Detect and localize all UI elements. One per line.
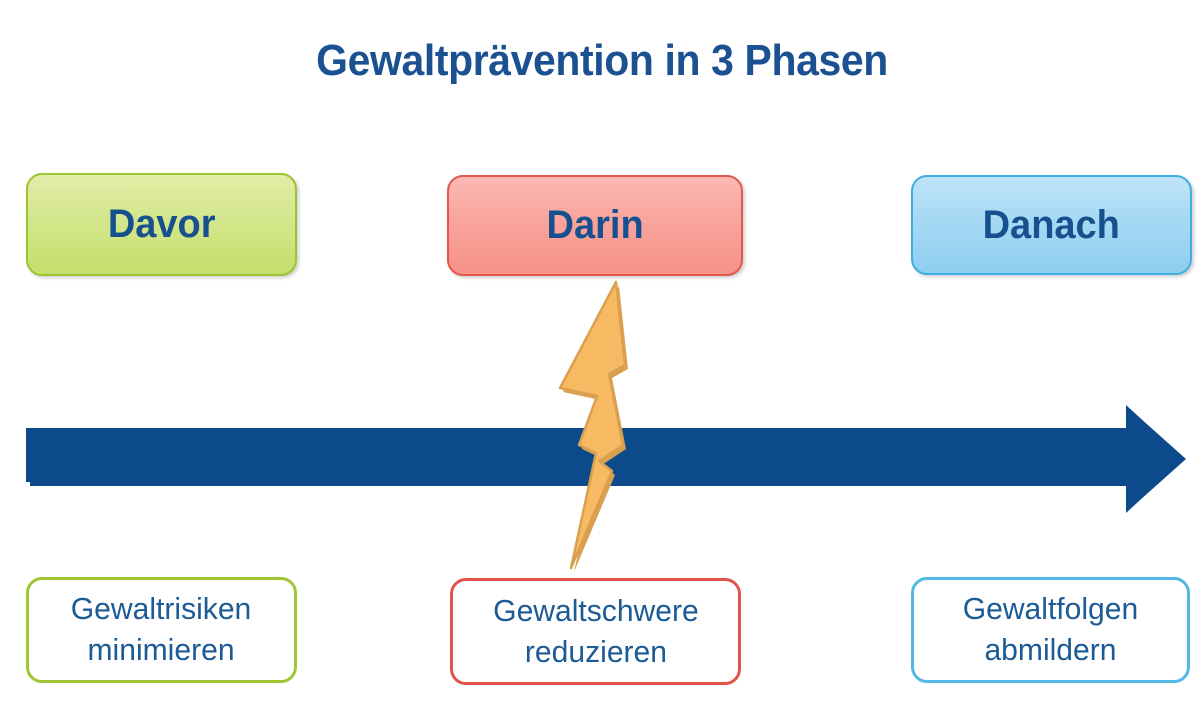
page-title: Gewaltprävention in 3 Phasen: [42, 36, 1162, 86]
phase-box-davor[interactable]: Davor: [26, 173, 297, 276]
lightning-bolt-icon: [540, 275, 670, 575]
outcome-box-davor[interactable]: Gewaltrisiken minimieren: [26, 577, 297, 683]
outcome-label-danach: Gewaltfolgen abmildern: [963, 589, 1139, 671]
phase-label-davor: Davor: [108, 202, 216, 247]
outcome-box-darin[interactable]: Gewaltschwere reduzieren: [450, 578, 741, 685]
phase-box-danach[interactable]: Danach: [911, 175, 1192, 275]
diagram-canvas: Gewaltprävention in 3 Phasen Davor Darin…: [0, 0, 1204, 723]
outcome-box-danach[interactable]: Gewaltfolgen abmildern: [911, 577, 1190, 683]
phase-label-danach: Danach: [983, 203, 1120, 248]
phase-label-darin: Darin: [546, 203, 643, 248]
phase-box-darin[interactable]: Darin: [447, 175, 743, 276]
outcome-label-darin: Gewaltschwere reduzieren: [493, 591, 699, 673]
outcome-label-davor: Gewaltrisiken minimieren: [71, 589, 251, 671]
